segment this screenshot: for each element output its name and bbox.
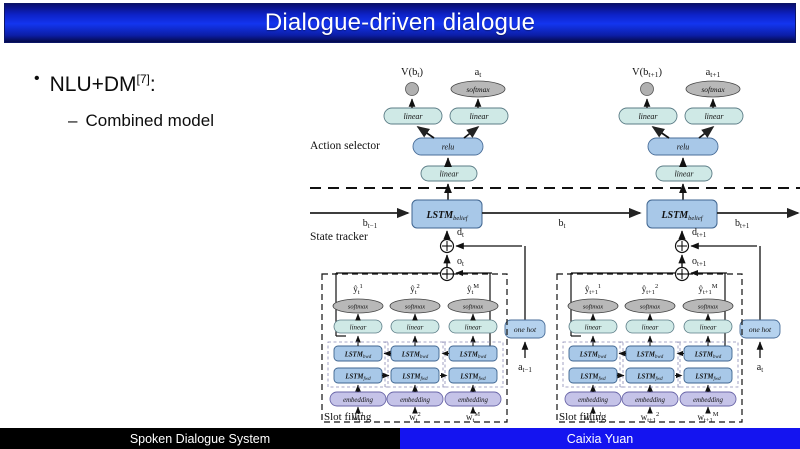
slot-filling-label-left: Slot filling [324,411,372,423]
slide-footer: Spoken Dialogue System Caixia Yuan [0,428,800,449]
slide-title-bar: Dialogue-driven dialogue [4,3,796,43]
linear-left-3-label: linear [465,324,482,332]
embedding-left-1-label: embedding [343,397,373,404]
relu-left-label: relu [442,143,455,152]
linear-action-right-label: linear [704,112,724,121]
belief-out-label-left: bt [559,218,566,230]
one-hot-left-label: one hot [514,325,537,334]
linear-right-2-label: linear [642,324,659,332]
linear-right-3-label: linear [700,324,717,332]
linear-value-left-label: linear [403,112,423,121]
embedding-left-2-label: embedding [400,397,430,404]
action-selector-label: Action selector [310,140,380,152]
softmax-action-left-label: softmax [466,85,490,94]
slot-column-left-1: ŷt1 softmax linear LSTMbwd LSTMfwd embed… [328,283,388,424]
page-title: Dialogue-driven dialogue [265,9,535,37]
belief-out-label-right: bt+1 [735,218,750,230]
architecture-diagram: V(bt) softmax at linear linear relu line… [310,58,800,426]
one-hot-right-label: one hot [749,325,772,334]
linear-belief-right-label: linear [674,170,694,179]
value-node-left [406,83,419,96]
softmax-left-2-label: softmax [405,304,425,311]
belief-in-label-left: bt−1 [363,218,378,230]
value-node-right [641,83,654,96]
bullet-item-sub: – Combined model [68,110,314,132]
linear-belief-left-label: linear [439,170,459,179]
bullet-marker-icon: • [34,66,40,92]
embedding-right-2-label: embedding [635,397,665,404]
slot-column-right-3: ŷt+1M softmax linear LSTMbwd LSTMfwd emb… [675,283,738,424]
linear-action-left-label: linear [469,112,489,121]
onehot-input-label-right: at [757,362,763,374]
bullet-primary-text: NLU+DM[7]: [50,66,156,98]
slot-column-right-2: ŷt+12 softmax linear LSTMbwd LSTMfwd emb… [617,283,680,424]
action-label-left: at [475,67,483,79]
embedding-right-3-label: embedding [693,397,723,404]
slot-column-left-2: ŷt2 softmax linear LSTMbwd LSTMfwd embed… [382,283,445,424]
embedding-right-1-label: embedding [578,397,608,404]
footer-right: Caixia Yuan [400,428,800,449]
linear-left-2-label: linear [407,324,424,332]
softmax-right-1-label: softmax [583,304,603,311]
action-label-right: at+1 [706,67,721,79]
relu-right-label: relu [677,143,690,152]
softmax-right-3-label: softmax [698,304,718,311]
softmax-left-3-label: softmax [463,304,483,311]
value-label-right: V(bt+1) [632,67,662,79]
slot-output-label-left-2: ŷt2 [410,283,420,296]
slot-output-label-left-1: ŷt1 [353,283,363,296]
d-label-left: dt [457,227,464,239]
value-label-left: V(bt) [401,67,423,79]
o-label-right: ot+1 [692,256,707,268]
bullet-item-primary: • NLU+DM[7]: [34,66,314,98]
slot-output-label-left-3: ŷtM [467,283,479,296]
bullet-sub-text: Combined model [85,110,214,132]
slot-output-label-right-2: ŷt+12 [642,283,658,296]
d-label-right: dt+1 [692,227,707,239]
slot-output-label-right-3: ŷt+1M [698,283,717,296]
linear-left-1-label: linear [350,324,367,332]
slide: Dialogue-driven dialogue • NLU+DM[7]: – … [0,0,800,449]
softmax-left-1-label: softmax [348,304,368,311]
state-tracker-label: State tracker [310,231,368,243]
softmax-action-right-label: softmax [701,85,725,94]
slot-column-right-1: ŷt+11 softmax linear LSTMbwd LSTMfwd emb… [563,283,623,424]
linear-value-right-label: linear [638,112,658,121]
linear-right-1-label: linear [585,324,602,332]
slot-output-label-right-1: ŷt+11 [585,283,601,296]
embedding-left-3-label: embedding [458,397,488,404]
onehot-input-label-left: at−1 [518,362,532,374]
bullet-list: • NLU+DM[7]: – Combined model [34,66,314,132]
o-label-left: ot [457,256,464,268]
softmax-right-2-label: softmax [640,304,660,311]
citation-superscript: [7] [137,72,150,86]
footer-left: Spoken Dialogue System [0,428,400,449]
sub-bullet-marker-icon: – [68,110,77,132]
slot-column-left-3: ŷtM softmax linear LSTMbwd LSTMfwd embed… [440,283,503,424]
